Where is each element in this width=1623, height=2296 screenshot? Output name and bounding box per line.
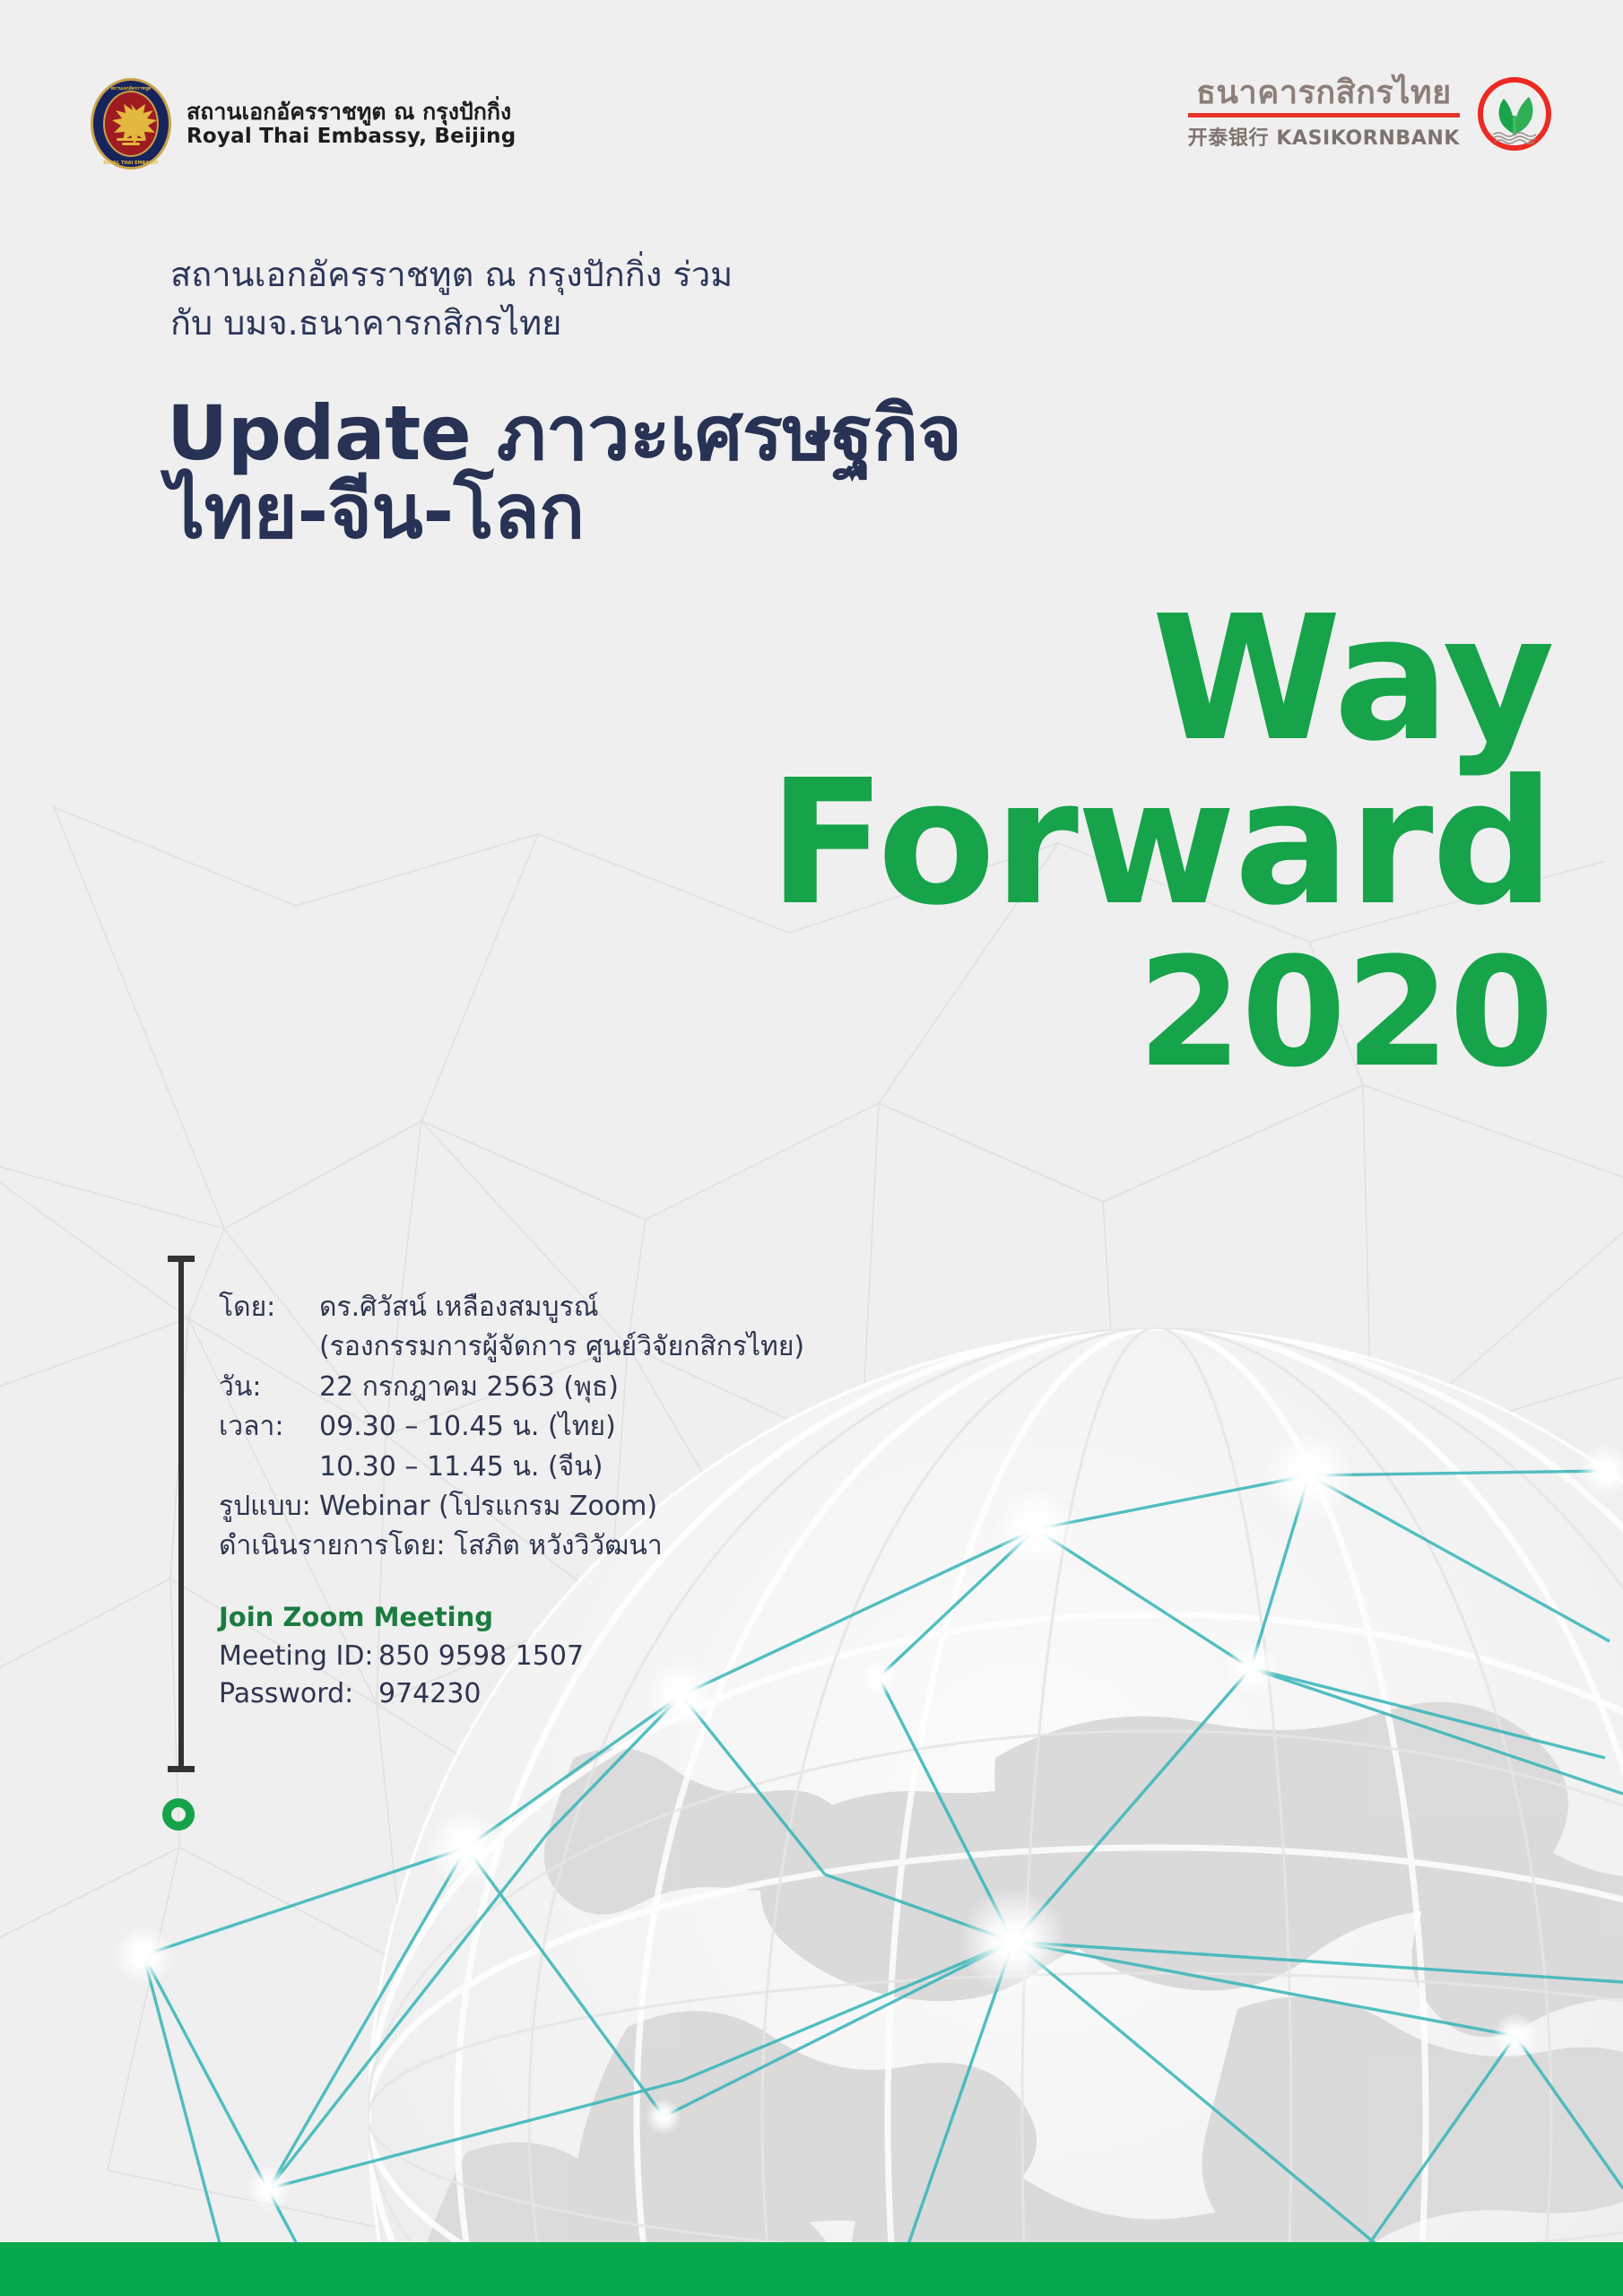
embassy-name-english: Royal Thai Embassy, Beijing [187, 125, 516, 149]
time-value-thai: 09.30 – 10.45 น. (ไทย) [319, 1407, 900, 1447]
zoom-meeting-id-label: Meeting ID: [219, 1638, 378, 1676]
event-details: โดย: ดร.ศิวัสน์ เหลืองสมบูรณ์ (รองกรรมกา… [219, 1288, 900, 1567]
royal-thai-embassy-seal-icon: สถานเอกอัครราชทูต ROYAL THAI EMBASSY [90, 77, 172, 170]
zoom-meeting-block: Join Zoom Meeting Meeting ID: 850 9598 1… [219, 1598, 584, 1714]
detail-row-date: วัน: 22 กรกฎาคม 2563 (พุธ) [219, 1368, 900, 1407]
date-label: วัน: [219, 1368, 319, 1407]
campaign-line-forward: Forward [567, 760, 1553, 928]
format-value: Webinar (โปรแกรม Zoom) [319, 1487, 900, 1526]
title-line-2: ไทย-จีน-โลก [167, 473, 1153, 551]
network-link-lines [143, 1471, 1623, 2278]
title-line-1: Update ภาวะเศรษฐกิจ [167, 395, 1153, 473]
detail-row-affiliation: (รองกรรมการผู้จัดการ ศูนย์วิจัยกสิกรไทย) [219, 1327, 900, 1367]
kasikornbank-wordmark: ธนาคารกสิกรไทย 开泰银行 KASIKORNBANK [1188, 77, 1460, 152]
date-value: 22 กรกฎาคม 2563 (พุธ) [319, 1368, 900, 1407]
kasikornbank-name-thai: ธนาคารกสิกรไทย [1196, 77, 1452, 110]
zoom-password-row: Password: 974230 [219, 1675, 584, 1714]
poster-header: สถานเอกอัครราชทูต ROYAL THAI EMBASSY สถา… [0, 0, 1623, 179]
kasikornbank-seedling-icon [1476, 75, 1553, 152]
zoom-meeting-id-value: 850 9598 1507 [378, 1638, 584, 1676]
zoom-password-label: Password: [219, 1675, 378, 1714]
footer-green-bar [0, 2242, 1623, 2296]
svg-text:สถานเอกอัครราชทูต: สถานเอกอัครราชทูต [111, 85, 152, 92]
time-label: เวลา: [219, 1407, 319, 1447]
globe-landmasses [417, 1702, 1623, 2296]
svg-text:ROYAL THAI EMBASSY: ROYAL THAI EMBASSY [103, 161, 159, 166]
embassy-logo-lockup: สถานเอกอัครราชทูต ROYAL THAI EMBASSY สถา… [90, 77, 516, 170]
kasikornbank-red-rule [1188, 113, 1460, 117]
detail-bracket-icon [166, 1256, 196, 1772]
detail-row-time-thai: เวลา: 09.30 – 10.45 น. (ไทย) [219, 1407, 900, 1447]
detail-row-speaker: โดย: ดร.ศิวัสน์ เหลืองสมบูรณ์ [219, 1288, 900, 1327]
speaker-affiliation: (รองกรรมการผู้จัดการ ศูนย์วิจัยกสิกรไทย) [319, 1327, 900, 1367]
detail-row-format: รูปแบบ: Webinar (โปรแกรม Zoom) [219, 1487, 900, 1526]
zoom-password-value: 974230 [378, 1675, 584, 1714]
speaker-value: ดร.ศิวัสน์ เหลืองสมบูรณ์ [319, 1288, 900, 1327]
lead-line-1: สถานเอกอัครราชทูต ณ กรุงปักกิ่ง ร่วม [170, 251, 1067, 300]
campaign-line-year: 2020 [567, 928, 1553, 1097]
zoom-heading: Join Zoom Meeting [219, 1598, 584, 1638]
zoom-meeting-id-row: Meeting ID: 850 9598 1507 [219, 1638, 584, 1676]
time-value-china: 10.30 – 11.45 น. (จีน) [319, 1448, 900, 1487]
lead-line-2: กับ บมจ.ธนาคารกสิกรไทย [170, 300, 1067, 348]
format-label: รูปแบบ: [219, 1487, 319, 1526]
campaign-line-way: Way [567, 601, 1553, 760]
detail-row-host: ดำเนินรายการโดย: โสภิต หวังวิวัฒนา [219, 1526, 900, 1566]
poster-canvas: สถานเอกอัครราชทูต ROYAL THAI EMBASSY สถา… [0, 0, 1623, 2296]
kasikornbank-logo-lockup: ธนาคารกสิกรไทย 开泰银行 KASIKORNBANK [1188, 75, 1553, 152]
campaign-headline: Way Forward 2020 [567, 601, 1553, 1097]
lead-paragraph: สถานเอกอัครราชทูต ณ กรุงปักกิ่ง ร่วม กับ… [170, 251, 1067, 348]
detail-row-time-china: 10.30 – 11.45 น. (จีน) [219, 1448, 900, 1487]
page-title: Update ภาวะเศรษฐกิจ ไทย-จีน-โลก [167, 395, 1153, 552]
green-ring-marker-icon [162, 1798, 195, 1831]
kasikornbank-name-latin: 开泰银行 KASIKORNBANK [1188, 122, 1460, 151]
speaker-label: โดย: [219, 1288, 319, 1327]
embassy-name-thai: สถานเอกอัครราชทูต ณ กรุงปักกิ่ง [187, 99, 516, 126]
